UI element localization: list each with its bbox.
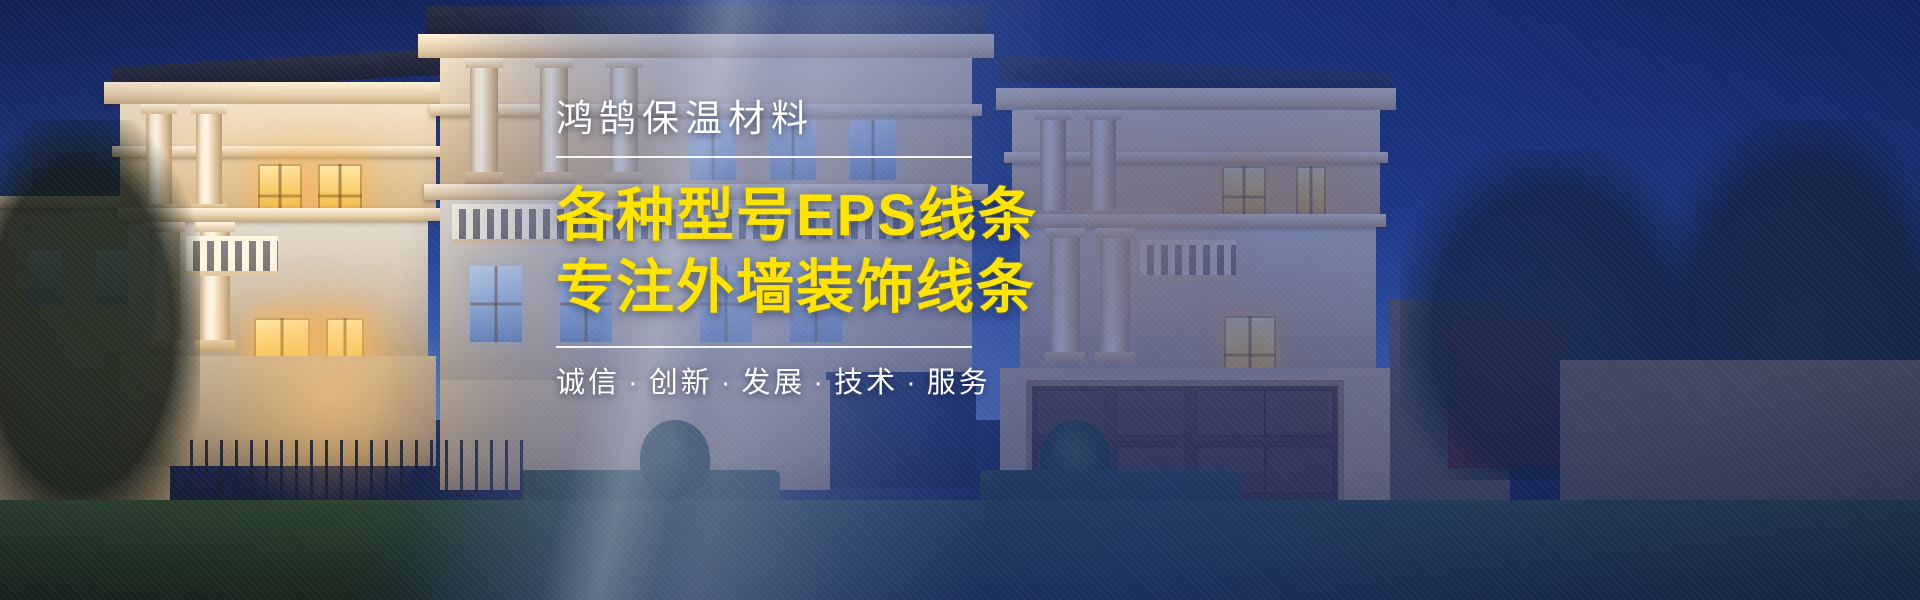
divider-bottom xyxy=(556,346,972,348)
shrub-a xyxy=(640,420,710,496)
tree-far-left xyxy=(0,120,200,500)
tagline-separator: · xyxy=(628,367,641,399)
column-c-1 xyxy=(470,58,498,184)
divider-top xyxy=(556,156,972,158)
center-cornice-top xyxy=(418,34,994,58)
tagline-separator: · xyxy=(906,367,919,399)
tagline-item: 发展 xyxy=(741,367,805,399)
headline-line-2: 专注外墙装饰线条 xyxy=(556,252,1336,324)
tagline-separator: · xyxy=(721,367,734,399)
tagline-item: 创新 xyxy=(649,367,713,399)
brand-name: 鸿鹄保温材料 xyxy=(556,96,1336,142)
tagline-item: 服务 xyxy=(927,367,991,399)
tagline-item: 诚信 xyxy=(556,367,620,399)
tagline: 诚信·创新·发展·技术·服务 xyxy=(556,366,1336,401)
hero-banner: 鸿鹄保温材料 各种型号EPS线条 专注外墙装饰线条 诚信·创新·发展·技术·服务 xyxy=(0,0,1920,600)
headline-line-1: 各种型号EPS线条 xyxy=(556,183,1038,248)
window-c-mid-1 xyxy=(470,266,522,342)
tagline-separator: · xyxy=(813,367,826,399)
left-wing-cornice xyxy=(104,82,450,104)
center-roof xyxy=(426,6,986,36)
tagline-item: 技术 xyxy=(834,367,898,399)
foreground-lawn xyxy=(0,500,1920,600)
headline: 各种型号EPS线条 专注外墙装饰线条 xyxy=(556,180,1336,324)
banner-text-block: 鸿鹄保温材料 各种型号EPS线条 专注外墙装饰线条 诚信·创新·发展·技术·服务 xyxy=(556,96,1336,400)
